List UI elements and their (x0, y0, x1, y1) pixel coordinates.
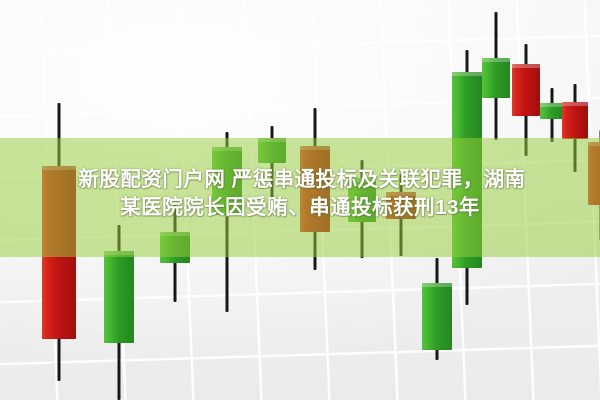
headline-line-1: 新股配资门户网 严惩串通投标及关联犯罪，湖南 (0, 166, 600, 194)
candle-body-cap (104, 251, 134, 255)
candle-body-cap (300, 146, 330, 150)
candle-body-cap (482, 58, 510, 62)
candle-body-cap (212, 147, 242, 151)
candle-body-up (482, 58, 510, 98)
candle-body-down (562, 102, 588, 139)
headline-text: 新股配资门户网 严惩串通投标及关联犯罪，湖南 某医院院长因受贿、串通投标获刑13… (0, 166, 600, 223)
candle-body-up (540, 103, 564, 119)
candle-body-up (160, 232, 190, 263)
headline-line-2: 某医院院长因受贿、串通投标获刑13年 (0, 194, 600, 222)
candle-body-cap (588, 142, 600, 146)
candle-body-cap (562, 102, 588, 106)
candle-body-up (104, 251, 134, 343)
candle-body-up (422, 283, 452, 350)
candle-body-down (512, 64, 540, 116)
candle-body-cap (540, 103, 564, 107)
candle-body-cap (512, 64, 540, 68)
candle-body-up (258, 138, 286, 163)
candle-body-cap (452, 72, 482, 76)
candle-body-cap (422, 283, 452, 287)
candle-body-cap (160, 232, 190, 236)
candle-body-cap (258, 138, 286, 142)
promo-banner: 新股配资门户网 严惩串通投标及关联犯罪，湖南 某医院院长因受贿、串通投标获刑13… (0, 0, 600, 400)
